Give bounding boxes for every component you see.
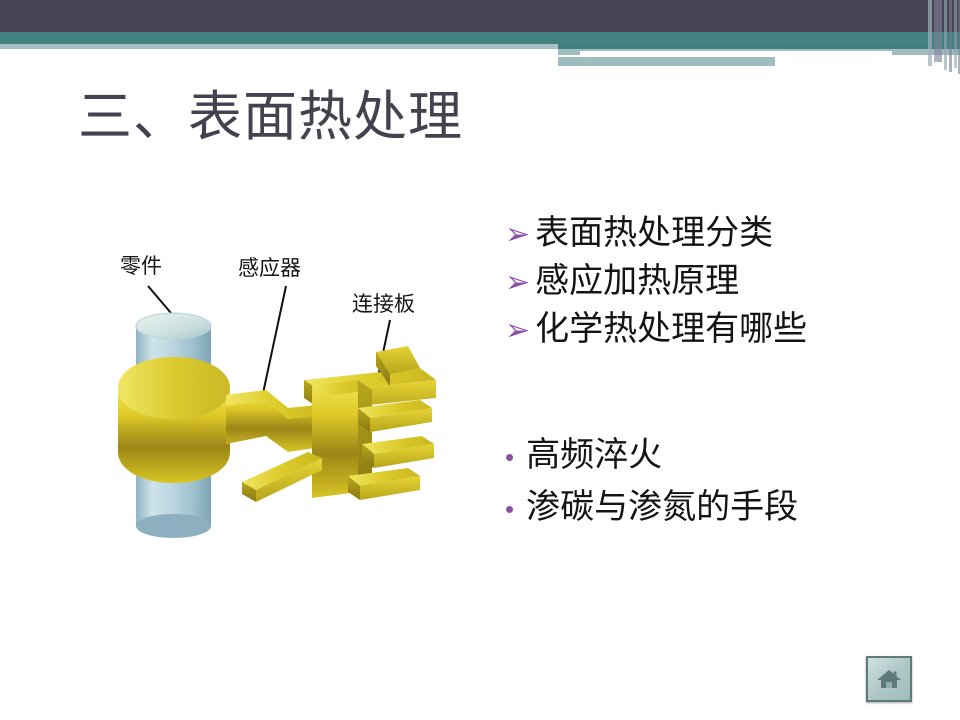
slide-title: 三、表面热处理 xyxy=(78,84,463,152)
dot-bullet-icon: • xyxy=(505,496,514,522)
banner-vertical-stripe-2 xyxy=(934,0,942,62)
list-item-label: 感应加热原理 xyxy=(535,258,739,304)
slide-header-banner xyxy=(0,0,960,80)
list-item-label: 化学热处理有哪些 xyxy=(535,306,807,352)
arrow-bullet-list: ➢ 表面热处理分类 ➢ 感应加热原理 ➢ 化学热处理有哪些 xyxy=(505,210,925,355)
arrow-bullet-icon: ➢ xyxy=(505,316,530,346)
banner-white-block-left xyxy=(0,57,558,66)
banner-white-base xyxy=(558,66,960,80)
list-item: ➢ 感应加热原理 xyxy=(505,258,925,304)
list-item-label: 表面热处理分类 xyxy=(535,210,773,256)
induction-heating-diagram: 零件 感应器 连接板 xyxy=(90,240,480,540)
inductor-collar xyxy=(118,357,230,483)
slide-canvas: 三、表面热处理 xyxy=(0,0,960,720)
home-icon xyxy=(876,667,902,691)
diagram-label-part: 零件 xyxy=(120,250,162,280)
list-item: ➢ 化学热处理有哪些 xyxy=(505,306,925,352)
list-item: • 渗碳与渗氮的手段 xyxy=(505,484,925,532)
list-item-label: 高频淬火 xyxy=(526,432,662,480)
diagram-label-inductor: 感应器 xyxy=(238,252,301,282)
banner-band-dark xyxy=(0,0,960,32)
dot-bullet-list: • 高频淬火 • 渗碳与渗氮的手段 xyxy=(505,432,925,535)
arrow-bullet-icon: ➢ xyxy=(505,268,530,298)
banner-vertical-stripe-4 xyxy=(949,0,952,72)
dot-bullet-icon: • xyxy=(505,444,514,470)
banner-white-block-right xyxy=(775,57,960,66)
banner-band-teal xyxy=(0,32,960,44)
banner-vertical-stripe-3 xyxy=(944,0,947,70)
arrow-bullet-icon: ➢ xyxy=(505,220,530,250)
list-item: • 高频淬火 xyxy=(505,432,925,480)
diagram-svg xyxy=(90,240,480,540)
list-item-label: 渗碳与渗氮的手段 xyxy=(526,484,798,532)
diagram-label-plate: 连接板 xyxy=(352,288,415,318)
list-item: ➢ 表面热处理分类 xyxy=(505,210,925,256)
banner-vertical-stripe-5 xyxy=(954,0,957,68)
home-button[interactable] xyxy=(866,656,912,702)
banner-vertical-stripe-1 xyxy=(928,0,932,66)
